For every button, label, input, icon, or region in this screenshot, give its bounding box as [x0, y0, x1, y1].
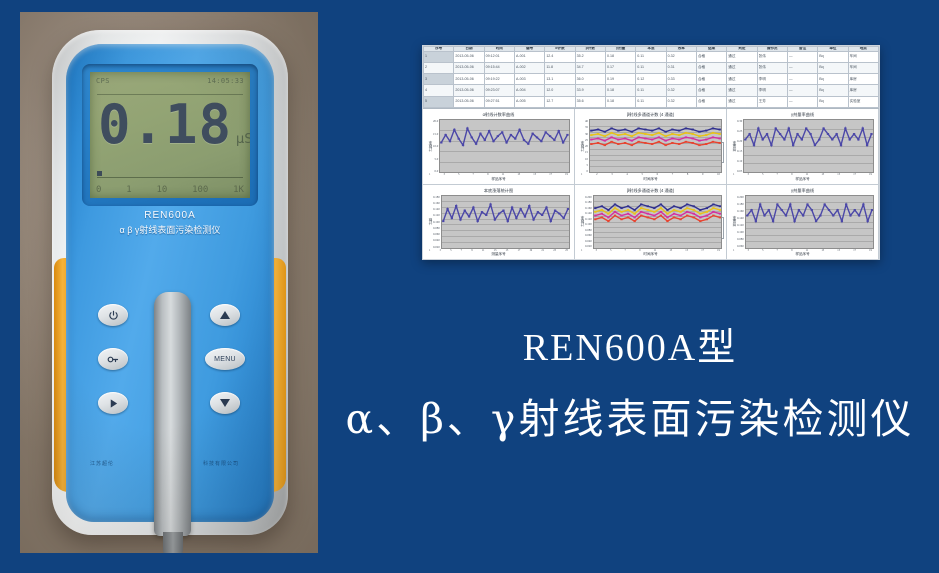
table-cell: 合格: [696, 85, 726, 96]
series-marker: [691, 138, 693, 140]
series-marker: [678, 143, 680, 145]
series-line: [442, 128, 568, 145]
down-button[interactable]: [210, 392, 240, 414]
series-marker: [658, 141, 660, 143]
device-footer-left: 江苏超伦: [90, 460, 114, 467]
series-marker: [604, 144, 606, 146]
table-cell: 0.31: [666, 62, 696, 73]
lcd-scale: 0 1 10 100 1K: [96, 185, 244, 195]
series-marker: [866, 144, 868, 146]
triangle-right-icon: [108, 398, 119, 409]
up-button[interactable]: [210, 304, 240, 326]
series-marker: [644, 142, 646, 144]
mini-chart-xlabel: 测量序号: [427, 252, 570, 257]
series-marker: [712, 214, 714, 216]
series-marker: [679, 218, 681, 220]
lcd-reading: 0.18 μSv/h: [98, 98, 244, 152]
series-marker: [597, 142, 599, 144]
series-marker: [814, 144, 816, 146]
series-marker: [685, 136, 687, 138]
series-marker: [719, 216, 721, 218]
series-marker: [498, 212, 500, 214]
series-marker: [519, 208, 521, 210]
series-marker: [450, 217, 452, 219]
mini-chart-xlabel: 时间序号: [579, 177, 722, 182]
table-cell: —: [787, 51, 817, 62]
series-marker: [493, 218, 495, 220]
mini-chart-yticks: 0.2000.1800.1600.1400.1200.1000.0800.060…: [585, 195, 593, 249]
lcd-status-row: CPS 14:05:33: [96, 77, 244, 85]
table-cell: 库房: [848, 74, 878, 85]
series-marker: [489, 203, 491, 205]
menu-button[interactable]: MENU: [205, 348, 245, 370]
series-marker: [818, 139, 820, 141]
series-marker: [666, 216, 668, 218]
mini-chart-ytick: 0.160: [585, 206, 592, 210]
table-cell: 0.32: [666, 96, 696, 107]
series-marker: [653, 207, 655, 209]
series-marker: [836, 209, 838, 211]
mini-chart-xlabel: 样品序号: [427, 177, 570, 182]
series-line: [747, 204, 872, 221]
series-marker: [815, 220, 817, 222]
series-marker: [604, 140, 606, 142]
series-marker: [698, 131, 700, 133]
series-marker: [614, 210, 616, 212]
series-marker: [620, 207, 622, 209]
table-cell: A-002: [514, 62, 544, 73]
series-marker: [536, 211, 538, 213]
series-marker: [610, 136, 612, 138]
mini-chart-ytick: 0.040: [585, 239, 592, 243]
series-marker: [627, 216, 629, 218]
series-marker: [515, 217, 517, 219]
series-marker: [540, 140, 542, 142]
mini-chart-ytick: 0.120: [737, 223, 744, 227]
mini-chart-ylabel: 剂量率: [731, 141, 736, 152]
series-marker: [631, 135, 633, 137]
series-marker: [678, 139, 680, 141]
series-marker: [678, 134, 680, 136]
table-cell: A-005: [514, 96, 544, 107]
mini-chart-ytick: 0.180: [737, 202, 744, 206]
mini-chart-title: γ剂量率曲线: [731, 188, 874, 194]
series-marker: [644, 138, 646, 140]
series-marker: [610, 141, 612, 143]
table-cell: 09:12:01: [484, 51, 514, 62]
series-marker: [660, 203, 662, 205]
table-cell: —: [787, 62, 817, 73]
device-model-label: REN600A: [66, 210, 274, 221]
table-cell: 0.32: [666, 85, 696, 96]
series-marker: [562, 217, 564, 219]
table-cell: 合格: [696, 74, 726, 85]
series-marker: [627, 212, 629, 214]
series-marker: [614, 207, 616, 209]
series-marker: [871, 209, 873, 211]
table-cell: 通过: [727, 85, 757, 96]
mini-chart-ytick: 0.200: [585, 195, 592, 199]
table-cell: 09:19:22: [484, 74, 514, 85]
play-button[interactable]: [98, 392, 128, 414]
table-cell: Bq: [818, 74, 848, 85]
series-marker: [562, 142, 564, 144]
mini-chart-yticks: 0.2000.1800.1600.1400.1200.1000.0800.060: [737, 195, 745, 249]
series-marker: [666, 220, 668, 222]
table-cell: 33.9: [575, 85, 605, 96]
mini-chart: γ剂量率曲线剂量率0.2000.1800.1600.1400.1200.1000…: [727, 185, 879, 261]
series-marker: [480, 133, 482, 135]
mini-chart-yticks: 0.1800.1600.1400.1200.1000.0800.0600.040…: [433, 195, 441, 249]
series-marker: [719, 138, 721, 140]
series-marker: [712, 132, 714, 134]
series-marker: [523, 139, 525, 141]
mini-chart-xlabel: 样品序号: [731, 177, 874, 182]
table-cell: 35.2: [575, 51, 605, 62]
table-cell: 0.11: [636, 51, 666, 62]
series-marker: [685, 132, 687, 134]
series-marker: [770, 144, 772, 146]
table-cell: 2013-05-06: [454, 96, 484, 107]
series-marker: [600, 212, 602, 214]
series-marker: [633, 216, 635, 218]
series-marker: [797, 133, 799, 135]
table-row[interactable]: 32013-05-0609:19:22A-00313.136.00.190.12…: [424, 74, 879, 85]
series-marker: [640, 207, 642, 209]
mini-chart-ytick: 25: [585, 138, 588, 142]
mini-chart-ytick: 0.180: [585, 200, 592, 204]
mini-chart-plot: [441, 195, 570, 249]
series-marker: [712, 136, 714, 138]
series-marker: [754, 220, 756, 222]
mini-chart-ytick: 0.160: [433, 201, 440, 205]
series-marker: [671, 138, 673, 140]
series-marker: [607, 212, 609, 214]
mini-chart-ytick: 0.15: [737, 149, 742, 153]
series-marker: [590, 130, 592, 132]
mini-chart-ytick: 0.140: [737, 216, 744, 220]
lcd-scale-tick: 1: [126, 185, 131, 195]
key-button[interactable]: [98, 348, 128, 370]
series-marker: [633, 209, 635, 211]
series-marker: [763, 214, 765, 216]
product-model-title: REN600A型: [325, 316, 935, 371]
series-marker: [468, 215, 470, 217]
series-marker: [501, 131, 503, 133]
series-marker: [679, 210, 681, 212]
series-marker: [637, 141, 639, 143]
table-cell: 王芳: [757, 96, 787, 107]
table-cell: 1: [424, 51, 454, 62]
mini-chart-ytick: 0.080: [433, 226, 440, 230]
power-icon: [108, 310, 119, 321]
series-marker: [536, 136, 538, 138]
mini-chart-ytick: 20: [585, 144, 588, 148]
series-marker: [691, 129, 693, 131]
series-line: [746, 128, 872, 145]
series-marker: [506, 142, 508, 144]
table-cell: 5: [424, 96, 454, 107]
table-row[interactable]: 12013-05-0609:12:01A-00112.435.20.180.11…: [424, 51, 879, 62]
table-cell: A-003: [514, 74, 544, 85]
lcd-value: 0.18: [98, 98, 232, 152]
series-marker: [858, 139, 860, 141]
series-marker: [819, 214, 821, 216]
series-marker: [844, 127, 846, 129]
series-marker: [744, 139, 746, 141]
mini-chart-ylabel: 计数: [427, 218, 432, 225]
table-cell: 0.18: [605, 51, 635, 62]
table-cell: 3: [424, 74, 454, 85]
series-marker: [831, 139, 833, 141]
series-marker: [524, 215, 526, 217]
triangle-down-icon: [219, 398, 231, 408]
series-marker: [810, 209, 812, 211]
series-marker: [476, 220, 478, 222]
mini-chart-title: γ剂量率曲线: [731, 112, 874, 118]
series-marker: [607, 209, 609, 211]
series-marker: [759, 203, 761, 205]
series-marker: [686, 214, 688, 216]
mini-chart-ytick: 0.120: [433, 213, 440, 217]
series-marker: [631, 131, 633, 133]
series-marker: [440, 142, 442, 144]
series-marker: [746, 214, 748, 216]
table-cell: 合格: [696, 96, 726, 107]
mini-chart-ytick: 0.080: [737, 237, 744, 241]
series-marker: [757, 127, 759, 129]
table-cell: 11.8: [545, 62, 575, 73]
mini-chart-xlabel: 样品序号: [731, 252, 874, 257]
series-marker: [644, 133, 646, 135]
table-cell: 通过: [727, 62, 757, 73]
table-row[interactable]: 22013-05-0609:15:44A-00211.834.70.170.11…: [424, 62, 879, 73]
series-marker: [607, 220, 609, 222]
table-cell: 2013-05-06: [454, 85, 484, 96]
table-cell: 车间: [848, 62, 878, 73]
series-marker: [646, 212, 648, 214]
mini-chart-ytick: 30: [585, 132, 588, 136]
mini-chart-ytick: 0.040: [433, 238, 440, 242]
mini-chart-title: 本底涨落统计图: [427, 188, 570, 194]
table-cell: 库房: [848, 85, 878, 96]
series-marker: [484, 139, 486, 141]
series-marker: [686, 203, 688, 205]
series-marker: [532, 218, 534, 220]
table-cell: 09:23:07: [484, 85, 514, 96]
lcd-scale-tick: 1K: [233, 185, 244, 195]
series-marker: [871, 133, 873, 135]
series-marker: [455, 204, 457, 206]
series-marker: [712, 127, 714, 129]
mini-chart-title: α射线计数率曲线: [427, 112, 570, 118]
series-marker: [646, 205, 648, 207]
table-cell: 0.11: [636, 62, 666, 73]
series-marker: [651, 130, 653, 132]
series-marker: [849, 214, 851, 216]
series-marker: [679, 214, 681, 216]
table-cell: 12.4: [545, 51, 575, 62]
series-marker: [590, 143, 592, 145]
series-marker: [840, 220, 842, 222]
series-marker: [699, 209, 701, 211]
series-marker: [691, 133, 693, 135]
series-marker: [653, 210, 655, 212]
table-cell: 09:27:51: [484, 96, 514, 107]
product-name-title: α、β、γ射线表面污染检测仪: [325, 385, 935, 445]
mini-chart-ytick: 20.0: [433, 119, 438, 123]
series-marker: [462, 144, 464, 146]
series-marker: [458, 138, 460, 140]
series-marker: [617, 130, 619, 132]
mini-chart: α射线计数率曲线计数率20.015.010.05.00.013579111315…: [423, 109, 575, 185]
power-button[interactable]: [98, 304, 128, 326]
series-marker: [651, 139, 653, 141]
series-marker: [832, 214, 834, 216]
mini-chart-ylabel: 计数率: [579, 216, 584, 227]
series-marker: [631, 140, 633, 142]
series-marker: [671, 133, 673, 135]
series-marker: [776, 203, 778, 205]
series-marker: [600, 209, 602, 211]
table-cell: 合格: [696, 51, 726, 62]
series-marker: [673, 212, 675, 214]
series-marker: [604, 135, 606, 137]
series-marker: [784, 139, 786, 141]
series-marker: [620, 218, 622, 220]
series-marker: [567, 208, 569, 210]
series-marker: [679, 207, 681, 209]
series-marker: [617, 143, 619, 145]
table-row[interactable]: 42013-05-0609:23:07A-00412.033.90.180.11…: [424, 85, 879, 96]
lcd-unit: μSv/h: [236, 132, 250, 147]
series-marker: [475, 143, 477, 145]
series-marker: [646, 216, 648, 218]
series-marker: [528, 204, 530, 206]
series-marker: [853, 133, 855, 135]
mini-chart-ytick: 10: [585, 157, 588, 161]
device-photo: CPS 14:05:33 0.18 μSv/h 0 1 10 100 1K RE…: [20, 12, 318, 553]
mini-chart-ytick: 15: [585, 150, 588, 154]
series-marker: [749, 133, 751, 135]
table-cell: 13.1: [545, 74, 575, 85]
series-marker: [651, 134, 653, 136]
table-cell: 张伟: [757, 62, 787, 73]
series-marker: [664, 135, 666, 137]
device-footer-right: 科技有限公司: [203, 460, 239, 467]
series-marker: [719, 205, 721, 207]
table-cell: 通过: [727, 74, 757, 85]
series-marker: [624, 129, 626, 131]
series-marker: [481, 211, 483, 213]
series-marker: [514, 138, 516, 140]
mini-chart-ytick: 5.0: [433, 157, 438, 161]
table-cell: 0.17: [605, 62, 635, 73]
lcd-scale-tick: 0: [96, 185, 101, 195]
series-marker: [627, 209, 629, 211]
device-brand-plate: REN600A α β γ射线表面污染检测仪: [66, 210, 274, 236]
series-marker: [699, 216, 701, 218]
series-marker: [651, 143, 653, 145]
table-cell: 2013-05-06: [454, 62, 484, 73]
data-table: 序号日期时间编号α计数β计数γ剂量本底效率结果判定操作员备注单位地点 12013…: [423, 46, 879, 108]
series-marker: [617, 139, 619, 141]
series-marker: [545, 131, 547, 133]
mini-chart-ytick: 15.0: [433, 132, 438, 136]
table-cell: 0.18: [605, 96, 635, 107]
table-cell: 12.0: [545, 85, 575, 96]
mini-chart-ytick: 0.140: [585, 211, 592, 215]
table-cell: 通过: [727, 51, 757, 62]
series-marker: [719, 209, 721, 211]
series-marker: [712, 141, 714, 143]
series-marker: [653, 218, 655, 220]
mini-chart-ytick: 0.100: [585, 222, 592, 226]
table-cell: 李明: [757, 74, 787, 85]
table-cell: 4: [424, 85, 454, 96]
series-marker: [805, 127, 807, 129]
lcd-bargraph-segment: [97, 171, 102, 176]
table-cell: 0.11: [636, 85, 666, 96]
series-marker: [446, 208, 448, 210]
series-marker: [558, 212, 560, 214]
series-marker: [862, 127, 864, 129]
mini-chart-ytick: 0.140: [433, 207, 440, 211]
mini-chart-ytick: 0.100: [737, 230, 744, 234]
series-marker: [750, 209, 752, 211]
series-marker: [823, 203, 825, 205]
series-marker: [785, 214, 787, 216]
series-marker: [549, 220, 551, 222]
table-cell: —: [787, 96, 817, 107]
table-cell: 通过: [727, 96, 757, 107]
series-marker: [506, 220, 508, 222]
series-marker: [660, 210, 662, 212]
series-marker: [810, 133, 812, 135]
table-cell: Bq: [818, 96, 848, 107]
table-cell: 车间: [848, 51, 878, 62]
table-cell: 合格: [696, 62, 726, 73]
table-cell: 李明: [757, 85, 787, 96]
triangle-up-icon: [219, 310, 231, 320]
mini-chart-plot: [439, 119, 570, 173]
table-cell: 2: [424, 62, 454, 73]
table-cell: A-001: [514, 51, 544, 62]
mini-chart-title: β射线多通道计数 (4 通道): [579, 112, 722, 118]
series-marker: [712, 203, 714, 205]
mini-chart-ytick: 0.100: [433, 220, 440, 224]
series-marker: [775, 127, 777, 129]
series-line: [443, 204, 568, 221]
table-cell: 0.12: [636, 74, 666, 85]
mini-chart-plot: [743, 119, 874, 173]
series-marker: [646, 209, 648, 211]
series-marker: [862, 203, 864, 205]
series-marker: [712, 207, 714, 209]
mini-chart-ytick: 0.10: [737, 159, 742, 163]
series-marker: [644, 129, 646, 131]
series-marker: [510, 134, 512, 136]
series-marker: [664, 131, 666, 133]
table-row[interactable]: 52013-05-0609:27:51A-00512.735.60.180.11…: [424, 96, 879, 107]
mini-chart-ytick: 0.30: [737, 119, 742, 123]
series-marker: [692, 209, 694, 211]
series-marker: [705, 218, 707, 220]
series-marker: [673, 205, 675, 207]
mini-chart-ytick: 40: [585, 119, 588, 123]
series-marker: [597, 133, 599, 135]
series-marker: [705, 207, 707, 209]
